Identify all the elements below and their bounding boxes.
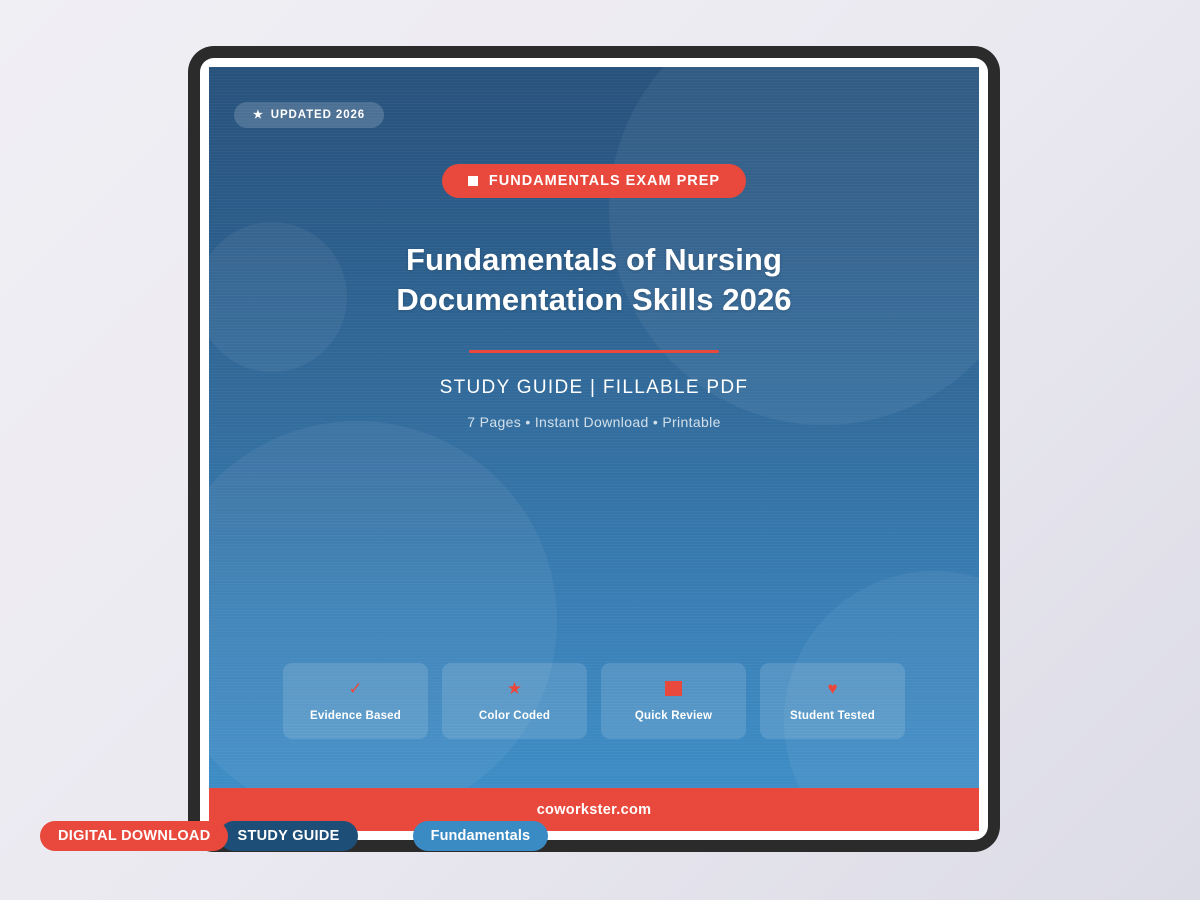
badge-fundamentals: Fundamentals xyxy=(413,821,549,851)
page-title: Fundamentals of Nursing Documentation Sk… xyxy=(396,240,791,321)
poster-subtitle: STUDY GUIDE | FILLABLE PDF xyxy=(440,377,749,399)
exam-prep-badge: FUNDAMENTALS EXAM PREP xyxy=(442,164,746,198)
square-icon xyxy=(665,681,682,696)
heart-icon: ♥ xyxy=(827,681,837,696)
feature-card-list: ✓ Evidence Based ★ Color Coded Quick Rev… xyxy=(209,663,979,739)
feature-card-label: Color Coded xyxy=(479,710,550,722)
footer-site-url: coworkster.com xyxy=(537,802,652,818)
overlay-badge-group: DIGITAL DOWNLOAD STUDY GUIDE Fundamental… xyxy=(40,821,548,851)
page-title-line-1: Fundamentals of Nursing xyxy=(406,242,782,277)
poster-meta: 7 Pages • Instant Download • Printable xyxy=(467,414,720,430)
device-bezel: ★ UPDATED 2026 FUNDAMENTALS EXAM PREP Fu… xyxy=(200,58,988,840)
badge-study-guide: STUDY GUIDE xyxy=(219,821,357,851)
title-divider xyxy=(469,350,719,353)
feature-card-label: Quick Review xyxy=(635,710,712,722)
exam-prep-badge-label: FUNDAMENTALS EXAM PREP xyxy=(489,173,720,189)
updated-badge: ★ UPDATED 2026 xyxy=(234,102,384,128)
square-icon xyxy=(468,176,478,186)
feature-card-student-tested: ♥ Student Tested xyxy=(760,663,905,739)
check-icon: ✓ xyxy=(348,681,362,696)
product-poster: ★ UPDATED 2026 FUNDAMENTALS EXAM PREP Fu… xyxy=(209,67,979,831)
feature-card-label: Student Tested xyxy=(790,710,875,722)
badge-digital-download: DIGITAL DOWNLOAD xyxy=(40,821,228,851)
feature-card-label: Evidence Based xyxy=(310,710,401,722)
feature-card-color-coded: ★ Color Coded xyxy=(442,663,587,739)
feature-card-evidence-based: ✓ Evidence Based xyxy=(283,663,428,739)
updated-badge-label: UPDATED 2026 xyxy=(271,109,365,121)
device-frame: ★ UPDATED 2026 FUNDAMENTALS EXAM PREP Fu… xyxy=(188,46,1000,852)
star-icon: ★ xyxy=(253,110,264,121)
feature-card-quick-review: Quick Review xyxy=(601,663,746,739)
star-icon: ★ xyxy=(507,681,522,696)
page-title-line-2: Documentation Skills 2026 xyxy=(396,282,791,317)
